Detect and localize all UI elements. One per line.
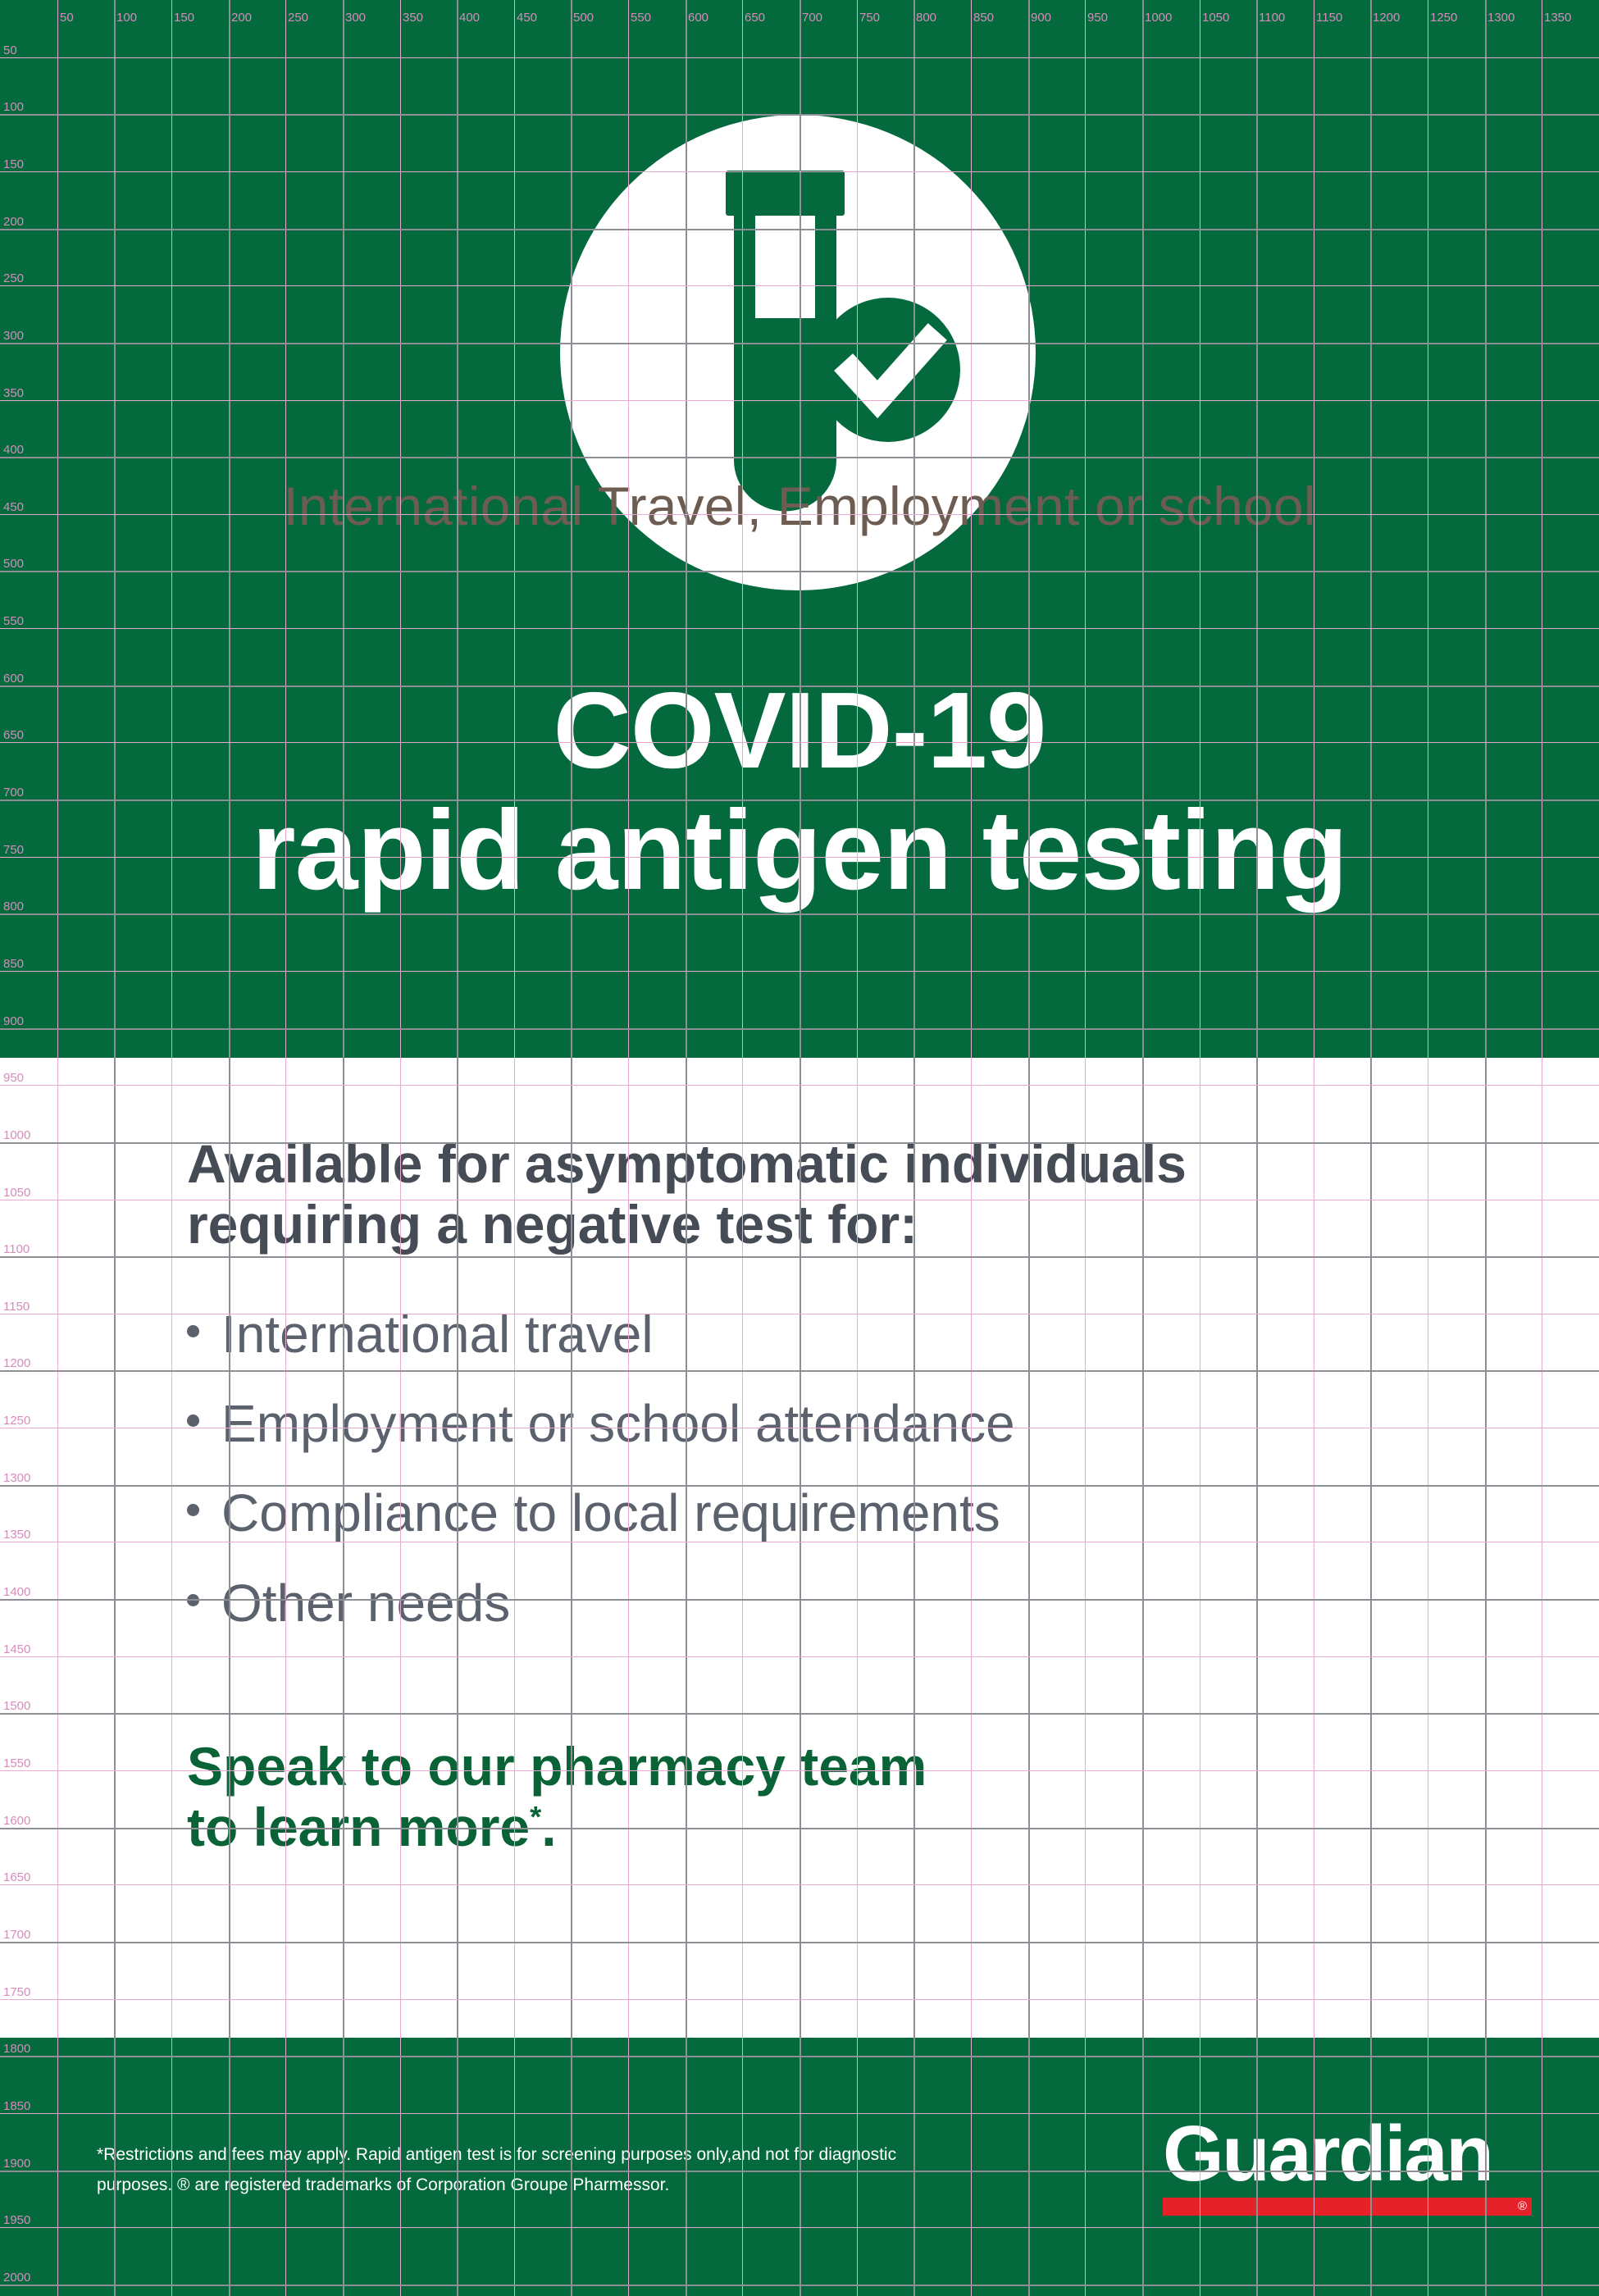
cta-line-2-text: to learn more <box>187 1797 530 1857</box>
bullet-dot-icon <box>187 1325 199 1337</box>
poster-canvas: International Travel, Employment or scho… <box>0 0 1599 2296</box>
bullet-dot-icon <box>187 1594 199 1606</box>
body-content: Available for asymptomatic individuals r… <box>187 1134 1515 1858</box>
body-heading-line-1: Available for asymptomatic individuals <box>187 1134 1515 1195</box>
list-item-label: International travel <box>221 1308 654 1361</box>
list-item: Employment or school attendance <box>187 1397 1515 1451</box>
ghost-overlay-text: International Travel, Employment or scho… <box>0 478 1599 535</box>
list-item-label: Compliance to local requirements <box>221 1487 1000 1540</box>
list-item: International travel <box>187 1308 1515 1361</box>
eligibility-list: International travel Employment or schoo… <box>187 1308 1515 1630</box>
guardian-red-rule: ® <box>1163 2198 1532 2216</box>
body-heading: Available for asymptomatic individuals r… <box>187 1134 1515 1255</box>
bullet-dot-icon <box>187 1414 199 1427</box>
guardian-wordmark: Guardian <box>1146 2116 1532 2193</box>
registered-trademark-icon: ® <box>1518 2200 1527 2213</box>
list-item: Other needs <box>187 1577 1515 1630</box>
page-title-line-1: COVID-19 <box>0 672 1599 790</box>
list-item-label: Other needs <box>221 1577 510 1630</box>
body-heading-line-2: requiring a negative test for: <box>187 1195 1515 1255</box>
cta-line-2: to learn more*. <box>187 1797 1515 1858</box>
call-to-action: Speak to our pharmacy team to learn more… <box>187 1737 1515 1858</box>
cta-asterisk: * <box>530 1800 541 1834</box>
list-item-label: Employment or school attendance <box>221 1397 1015 1451</box>
cta-line-1: Speak to our pharmacy team <box>187 1737 1515 1797</box>
guardian-logo: Guardian ® <box>1146 2116 1532 2216</box>
footer-disclaimer: *Restrictions and fees may apply. Rapid … <box>97 2140 925 2201</box>
list-item: Compliance to local requirements <box>187 1487 1515 1540</box>
page-title-line-2: rapid antigen testing <box>0 790 1599 912</box>
footer-disclaimer-line-1: *Restrictions and fees may apply. Rapid … <box>97 2140 925 2171</box>
page-title: COVID-19 rapid antigen testing <box>0 672 1599 912</box>
bullet-dot-icon <box>187 1504 199 1516</box>
footer-disclaimer-line-2: purposes. ® are registered trademarks of… <box>97 2171 925 2201</box>
cta-period: . <box>541 1797 556 1857</box>
